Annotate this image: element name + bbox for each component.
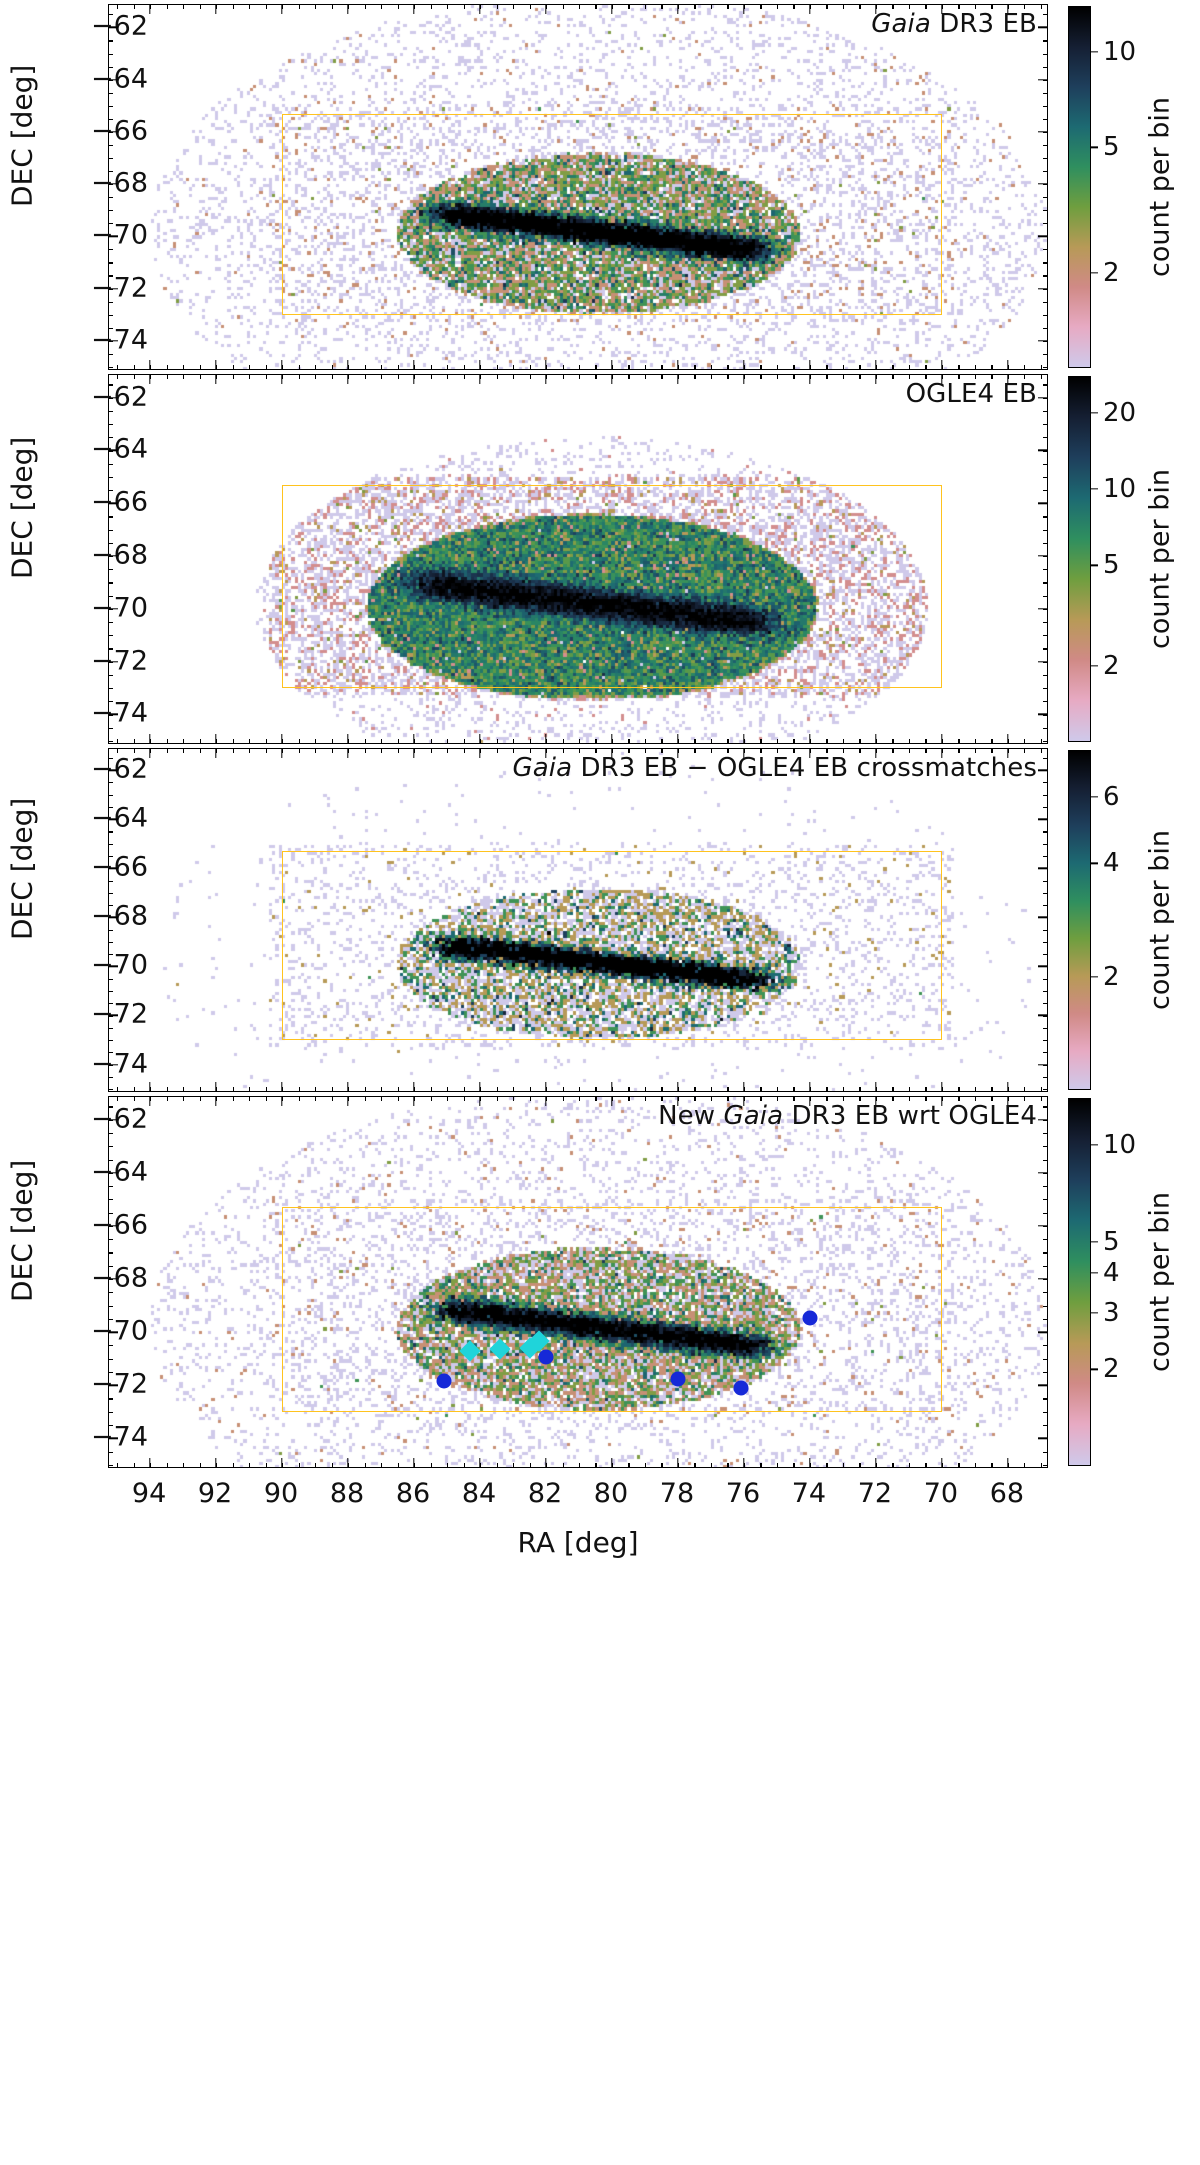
x-minor-tick xyxy=(117,739,118,743)
y-tick-mark xyxy=(109,236,118,237)
x-minor-tick-top xyxy=(464,1097,465,1101)
y-minor-tick-right xyxy=(1043,197,1047,198)
x-minor-tick xyxy=(892,1463,893,1467)
y-minor-tick xyxy=(109,315,113,316)
x-minor-tick xyxy=(431,1087,432,1091)
y-minor-tick-right xyxy=(1043,1040,1047,1041)
x-minor-tick xyxy=(563,739,564,743)
x-minor-tick-top xyxy=(447,375,448,379)
x-minor-tick-top xyxy=(249,375,250,379)
y-minor-tick-right xyxy=(1043,367,1047,368)
marker-circle-4 xyxy=(733,1380,748,1395)
x-minor-tick xyxy=(183,365,184,369)
x-minor-tick xyxy=(826,1463,827,1467)
x-minor-tick xyxy=(628,1087,629,1091)
colorbar-tick-mark-3-3 xyxy=(1091,1312,1098,1313)
x-minor-tick xyxy=(975,739,976,743)
colorbar-tick-mark-1-20 xyxy=(1091,412,1098,413)
x-minor-tick xyxy=(497,1463,498,1467)
y-minor-tick xyxy=(109,223,113,224)
x-minor-tick xyxy=(117,365,118,369)
y-tick-mark-right xyxy=(1038,966,1047,967)
x-minor-tick xyxy=(497,739,498,743)
y-minor-tick xyxy=(109,1359,113,1360)
panel-title-1-italic: Gaia xyxy=(871,9,931,39)
y-minor-tick-right xyxy=(1043,354,1047,355)
x-minor-tick xyxy=(925,1087,926,1091)
x-minor-tick xyxy=(299,1463,300,1467)
x-tick-mark xyxy=(1007,1458,1008,1467)
x-tick-mark xyxy=(743,1458,744,1467)
x-minor-tick xyxy=(727,739,728,743)
x-minor-tick xyxy=(167,1463,168,1467)
y-minor-tick-right xyxy=(1043,1199,1047,1200)
x-tick-mark xyxy=(479,360,480,369)
y-tick-mark-right xyxy=(1038,131,1047,132)
x-minor-tick xyxy=(826,365,827,369)
y-minor-tick-right xyxy=(1043,424,1047,425)
x-minor-tick-top xyxy=(332,1097,333,1101)
y-tick-label-2--64: −64 xyxy=(91,803,148,834)
x-minor-tick xyxy=(793,1463,794,1467)
y-tick-mark-right xyxy=(1038,1331,1047,1332)
x-minor-tick-top xyxy=(315,5,316,9)
x-minor-tick xyxy=(892,1087,893,1091)
panel-title-3-italic: Gaia xyxy=(512,753,572,783)
x-minor-tick xyxy=(266,739,267,743)
colorbar-tick-mark-2-6 xyxy=(1091,796,1098,797)
x-minor-tick-top xyxy=(563,375,564,379)
y-minor-tick-right xyxy=(1043,1412,1047,1413)
y-tick-mark xyxy=(109,1331,118,1332)
x-tick-mark-top xyxy=(413,5,414,14)
x-minor-tick xyxy=(134,739,135,743)
x-minor-tick xyxy=(167,739,168,743)
x-minor-tick-top xyxy=(711,5,712,9)
y-tick-label-0--66: −66 xyxy=(91,115,148,146)
x-minor-tick xyxy=(315,1087,316,1091)
x-tick-mark-top xyxy=(611,5,612,14)
x-minor-tick-top xyxy=(1041,375,1042,379)
y-tick-label-1--68: −68 xyxy=(91,540,148,571)
y-minor-tick xyxy=(109,1239,113,1240)
y-minor-tick xyxy=(109,1292,113,1293)
x-minor-tick xyxy=(975,365,976,369)
x-minor-tick xyxy=(381,1463,382,1467)
y-minor-tick xyxy=(109,596,113,597)
x-minor-tick xyxy=(233,365,234,369)
x-tick-label-78: 78 xyxy=(660,1478,694,1509)
y-minor-tick-right xyxy=(1043,1106,1047,1107)
x-minor-tick-top xyxy=(365,749,366,753)
y-minor-tick-right xyxy=(1043,1028,1047,1029)
y-minor-tick-right xyxy=(1043,328,1047,329)
y-tick-mark xyxy=(109,868,118,869)
panel-title-4-prefix: New xyxy=(658,1101,723,1131)
x-minor-tick-top xyxy=(760,375,761,379)
y-minor-tick-right xyxy=(1043,942,1047,943)
y-tick-label-3--64: −64 xyxy=(91,1156,148,1187)
colorbar-0 xyxy=(1068,6,1091,368)
x-minor-tick-top xyxy=(167,749,168,753)
x-minor-tick xyxy=(711,1463,712,1467)
x-tick-mark-top xyxy=(215,375,216,384)
y-tick-label-1--62: −62 xyxy=(91,381,148,412)
x-minor-tick-top xyxy=(694,5,695,9)
y-minor-tick xyxy=(109,893,113,894)
x-minor-tick xyxy=(513,1463,514,1467)
y-minor-tick xyxy=(109,106,113,107)
y-tick-mark-right xyxy=(1038,397,1047,398)
x-tick-mark-top xyxy=(347,5,348,14)
colorbar-tick-label-3-5: 5 xyxy=(1103,1227,1120,1257)
x-tick-mark xyxy=(743,734,744,743)
x-minor-tick-top xyxy=(513,375,514,379)
x-minor-tick xyxy=(530,1087,531,1091)
y-minor-tick xyxy=(109,477,113,478)
x-minor-tick xyxy=(925,739,926,743)
colorbar-tick-mark-3-4 xyxy=(1091,1272,1098,1273)
x-tick-mark-top xyxy=(281,5,282,14)
y-minor-tick-right xyxy=(1043,758,1047,759)
y-minor-tick-right xyxy=(1043,1160,1047,1161)
y-minor-tick xyxy=(109,1252,113,1253)
x-minor-tick-top xyxy=(826,5,827,9)
y-minor-tick xyxy=(109,954,113,955)
footprint-box-3 xyxy=(282,851,942,1040)
x-tick-mark-top xyxy=(545,5,546,14)
colorbar-tick-mark-3-5 xyxy=(1091,1241,1098,1242)
x-minor-tick xyxy=(595,739,596,743)
y-tick-label-2--68: −68 xyxy=(91,901,148,932)
x-minor-tick xyxy=(249,739,250,743)
y-minor-tick-right xyxy=(1043,741,1047,742)
x-minor-tick-top xyxy=(661,5,662,9)
x-minor-tick-top xyxy=(859,375,860,379)
y-minor-tick-right xyxy=(1043,477,1047,478)
x-minor-tick-top xyxy=(447,1097,448,1101)
x-minor-tick xyxy=(777,739,778,743)
x-minor-tick-top xyxy=(859,5,860,9)
y-minor-tick-right xyxy=(1043,119,1047,120)
colorbar-title-3: count per bin xyxy=(1145,1192,1176,1372)
x-minor-tick xyxy=(991,1463,992,1467)
colorbar-tick-mark-3-10 xyxy=(1091,1144,1098,1145)
y-tick-label-1--66: −66 xyxy=(91,487,148,518)
y-minor-tick xyxy=(109,1425,113,1426)
x-minor-tick xyxy=(398,739,399,743)
x-minor-tick-top xyxy=(595,375,596,379)
y-minor-tick-right xyxy=(1043,14,1047,15)
y-minor-tick xyxy=(109,14,113,15)
y-minor-tick xyxy=(109,354,113,355)
colorbar-tick-label-1-20: 20 xyxy=(1103,398,1136,428)
x-minor-tick xyxy=(563,1463,564,1467)
colorbar-gradient xyxy=(1069,751,1090,1089)
x-minor-tick xyxy=(117,1463,118,1467)
x-tick-label-90: 90 xyxy=(264,1478,298,1509)
x-minor-tick xyxy=(975,1087,976,1091)
x-minor-tick xyxy=(332,1087,333,1091)
x-minor-tick xyxy=(793,739,794,743)
marker-circle-3 xyxy=(670,1371,685,1386)
x-tick-mark xyxy=(215,360,216,369)
y-tick-mark-right xyxy=(1038,288,1047,289)
colorbar-tick-label-2-4: 4 xyxy=(1103,848,1120,878)
x-minor-tick-top xyxy=(1041,749,1042,753)
panel-title-4-italic: Gaia xyxy=(723,1101,783,1131)
y-tick-mark xyxy=(109,450,118,451)
x-minor-tick-top xyxy=(233,749,234,753)
x-tick-mark xyxy=(611,1458,612,1467)
x-minor-tick xyxy=(595,365,596,369)
y-minor-tick xyxy=(109,543,113,544)
y-minor-tick xyxy=(109,54,113,55)
y-tick-mark-right xyxy=(1038,1225,1047,1226)
footprint-box-4 xyxy=(282,1207,942,1411)
y-tick-label-3--66: −66 xyxy=(91,1209,148,1240)
y-minor-tick xyxy=(109,210,113,211)
x-minor-tick-top xyxy=(299,1097,300,1101)
y-minor-tick xyxy=(109,1052,113,1053)
plot-area-3 xyxy=(109,749,1047,1091)
x-minor-tick xyxy=(826,1087,827,1091)
colorbar-title-1: count per bin xyxy=(1145,469,1176,649)
x-tick-mark xyxy=(611,360,612,369)
colorbar-tick-label-1-2: 2 xyxy=(1103,651,1120,681)
x-tick-mark xyxy=(479,734,480,743)
colorbar-tick-mark-3-2 xyxy=(1091,1369,1098,1370)
x-tick-label-72: 72 xyxy=(858,1478,892,1509)
y-minor-tick xyxy=(109,1398,113,1399)
x-tick-mark xyxy=(281,1458,282,1467)
x-minor-tick-top xyxy=(315,749,316,753)
x-tick-mark xyxy=(1007,734,1008,743)
y-minor-tick xyxy=(109,158,113,159)
figure-root: Gaia DR3 EB OGLE4 EB Gaia DR3 EB − OGLE4… xyxy=(0,0,1200,2165)
y-minor-tick xyxy=(109,384,113,385)
y-minor-tick xyxy=(109,40,113,41)
y-minor-tick-right xyxy=(1043,437,1047,438)
x-minor-tick-top xyxy=(381,1097,382,1101)
x-minor-tick xyxy=(381,1087,382,1091)
x-minor-tick-top xyxy=(365,5,366,9)
x-minor-tick-top xyxy=(645,5,646,9)
x-tick-mark xyxy=(347,1082,348,1091)
y-tick-mark-right xyxy=(1038,1064,1047,1065)
x-tick-mark xyxy=(479,1082,480,1091)
x-minor-tick xyxy=(595,1463,596,1467)
x-tick-mark-top xyxy=(479,375,480,384)
x-minor-tick-top xyxy=(464,375,465,379)
x-minor-tick xyxy=(661,1463,662,1467)
x-minor-tick xyxy=(711,739,712,743)
x-minor-tick xyxy=(991,1087,992,1091)
y-minor-tick-right xyxy=(1043,210,1047,211)
y-minor-tick-right xyxy=(1043,1052,1047,1053)
x-minor-tick xyxy=(925,1463,926,1467)
y-tick-mark xyxy=(109,555,118,556)
x-minor-tick xyxy=(299,1087,300,1091)
x-minor-tick xyxy=(1041,365,1042,369)
colorbar-title-0: count per bin xyxy=(1145,97,1176,277)
y-tick-mark-right xyxy=(1038,714,1047,715)
colorbar-tick-label-3-3: 3 xyxy=(1103,1298,1120,1328)
x-minor-tick xyxy=(398,1087,399,1091)
x-minor-tick xyxy=(760,365,761,369)
y-minor-tick-right xyxy=(1043,158,1047,159)
y-minor-tick xyxy=(109,758,113,759)
x-tick-mark xyxy=(347,1458,348,1467)
x-minor-tick xyxy=(497,365,498,369)
x-tick-mark xyxy=(809,1458,810,1467)
x-minor-tick xyxy=(1041,1463,1042,1467)
y-minor-tick xyxy=(109,490,113,491)
y-tick-mark xyxy=(109,1225,118,1226)
y-minor-tick-right xyxy=(1043,1252,1047,1253)
x-minor-tick-top xyxy=(315,1097,316,1101)
x-minor-tick-top xyxy=(266,749,267,753)
x-minor-tick xyxy=(760,1463,761,1467)
x-minor-tick xyxy=(266,1463,267,1467)
y-tick-mark xyxy=(109,917,118,918)
y-minor-tick-right xyxy=(1043,954,1047,955)
x-minor-tick xyxy=(694,1087,695,1091)
x-minor-tick-top xyxy=(183,1097,184,1101)
y-axis-label-2: DEC [deg] xyxy=(6,900,39,940)
y-tick-mark xyxy=(109,340,118,341)
panel-title-4: New Gaia DR3 EB wrt OGLE4 xyxy=(658,1101,1037,1131)
y-tick-mark-right xyxy=(1038,340,1047,341)
x-minor-tick-top xyxy=(777,5,778,9)
y-minor-tick-right xyxy=(1043,635,1047,636)
y-minor-tick-right xyxy=(1043,701,1047,702)
x-minor-tick-top xyxy=(447,749,448,753)
colorbar-tick-label-1-5: 5 xyxy=(1103,550,1120,580)
x-tick-mark-top xyxy=(545,1097,546,1106)
x-minor-tick-top xyxy=(530,5,531,9)
panel-title-2-rest: OGLE4 EB xyxy=(906,379,1037,409)
y-minor-tick xyxy=(109,930,113,931)
x-minor-tick xyxy=(447,1087,448,1091)
x-minor-tick-top xyxy=(628,375,629,379)
panel-title-2: OGLE4 EB xyxy=(906,379,1037,409)
colorbar-tick-mark-1-10 xyxy=(1091,488,1098,489)
x-tick-label-84: 84 xyxy=(462,1478,496,1509)
x-minor-tick-top xyxy=(134,1097,135,1101)
x-tick-mark xyxy=(1007,360,1008,369)
x-minor-tick xyxy=(398,1463,399,1467)
y-tick-mark-right xyxy=(1038,661,1047,662)
y-minor-tick-right xyxy=(1043,728,1047,729)
y-tick-label-2--74: −74 xyxy=(91,1048,148,1079)
y-tick-label-0--68: −68 xyxy=(91,168,148,199)
y-minor-tick-right xyxy=(1043,1452,1047,1453)
x-minor-tick xyxy=(909,1463,910,1467)
x-minor-tick-top xyxy=(233,375,234,379)
colorbar-tick-label-2-6: 6 xyxy=(1103,782,1120,812)
x-minor-tick xyxy=(447,1463,448,1467)
x-minor-tick xyxy=(233,1463,234,1467)
x-minor-tick-top xyxy=(332,375,333,379)
x-tick-mark-top xyxy=(215,1097,216,1106)
colorbar-tick-label-3-10: 10 xyxy=(1103,1130,1136,1160)
x-minor-tick-top xyxy=(464,5,465,9)
y-minor-tick-right xyxy=(1043,1465,1047,1466)
y-minor-tick-right xyxy=(1043,516,1047,517)
y-minor-tick xyxy=(109,275,113,276)
y-minor-tick xyxy=(109,569,113,570)
x-minor-tick xyxy=(447,739,448,743)
y-minor-tick-right xyxy=(1043,249,1047,250)
x-minor-tick-top xyxy=(513,5,514,9)
y-tick-mark xyxy=(109,966,118,967)
x-tick-mark-top xyxy=(743,5,744,14)
y-tick-label-2--72: −72 xyxy=(91,999,148,1030)
colorbar-tick-label-2-2: 2 xyxy=(1103,962,1120,992)
y-minor-tick-right xyxy=(1043,1319,1047,1320)
x-minor-tick-top xyxy=(117,1097,118,1101)
x-minor-tick xyxy=(645,739,646,743)
y-tick-mark-right xyxy=(1038,450,1047,451)
y-minor-tick xyxy=(109,856,113,857)
x-minor-tick xyxy=(958,365,959,369)
y-minor-tick-right xyxy=(1043,40,1047,41)
colorbar-tick-label-1-10: 10 xyxy=(1103,474,1136,504)
y-minor-tick xyxy=(109,1160,113,1161)
x-minor-tick-top xyxy=(530,1097,531,1101)
x-tick-mark xyxy=(743,1082,744,1091)
x-minor-tick-top xyxy=(892,375,893,379)
x-tick-mark xyxy=(413,360,414,369)
x-minor-tick xyxy=(233,1087,234,1091)
x-tick-mark-top xyxy=(347,749,348,758)
y-tick-mark xyxy=(109,1172,118,1173)
y-tick-mark xyxy=(109,1385,118,1386)
x-minor-tick xyxy=(530,365,531,369)
x-minor-tick xyxy=(777,365,778,369)
x-tick-mark-top xyxy=(281,749,282,758)
x-tick-mark xyxy=(875,734,876,743)
x-tick-label-80: 80 xyxy=(594,1478,628,1509)
x-minor-tick xyxy=(892,365,893,369)
footprint-box-1 xyxy=(282,114,942,315)
x-minor-tick xyxy=(381,365,382,369)
x-minor-tick xyxy=(958,1463,959,1467)
x-tick-mark xyxy=(215,1082,216,1091)
x-minor-tick xyxy=(447,365,448,369)
x-minor-tick-top xyxy=(628,1097,629,1101)
y-tick-mark-right xyxy=(1038,236,1047,237)
y-minor-tick xyxy=(109,530,113,531)
x-minor-tick xyxy=(777,1087,778,1091)
y-minor-tick xyxy=(109,249,113,250)
x-minor-tick xyxy=(431,1463,432,1467)
x-minor-tick-top xyxy=(398,1097,399,1101)
y-tick-mark-right xyxy=(1038,27,1047,28)
y-minor-tick-right xyxy=(1043,1239,1047,1240)
x-minor-tick xyxy=(793,1087,794,1091)
x-minor-tick-top xyxy=(431,5,432,9)
x-minor-tick xyxy=(299,365,300,369)
x-tick-mark xyxy=(611,1082,612,1091)
x-tick-mark-top xyxy=(215,5,216,14)
y-minor-tick xyxy=(109,1372,113,1373)
y-minor-tick-right xyxy=(1043,1186,1047,1187)
x-minor-tick-top xyxy=(183,5,184,9)
x-minor-tick xyxy=(134,365,135,369)
colorbar-3 xyxy=(1068,1098,1091,1466)
